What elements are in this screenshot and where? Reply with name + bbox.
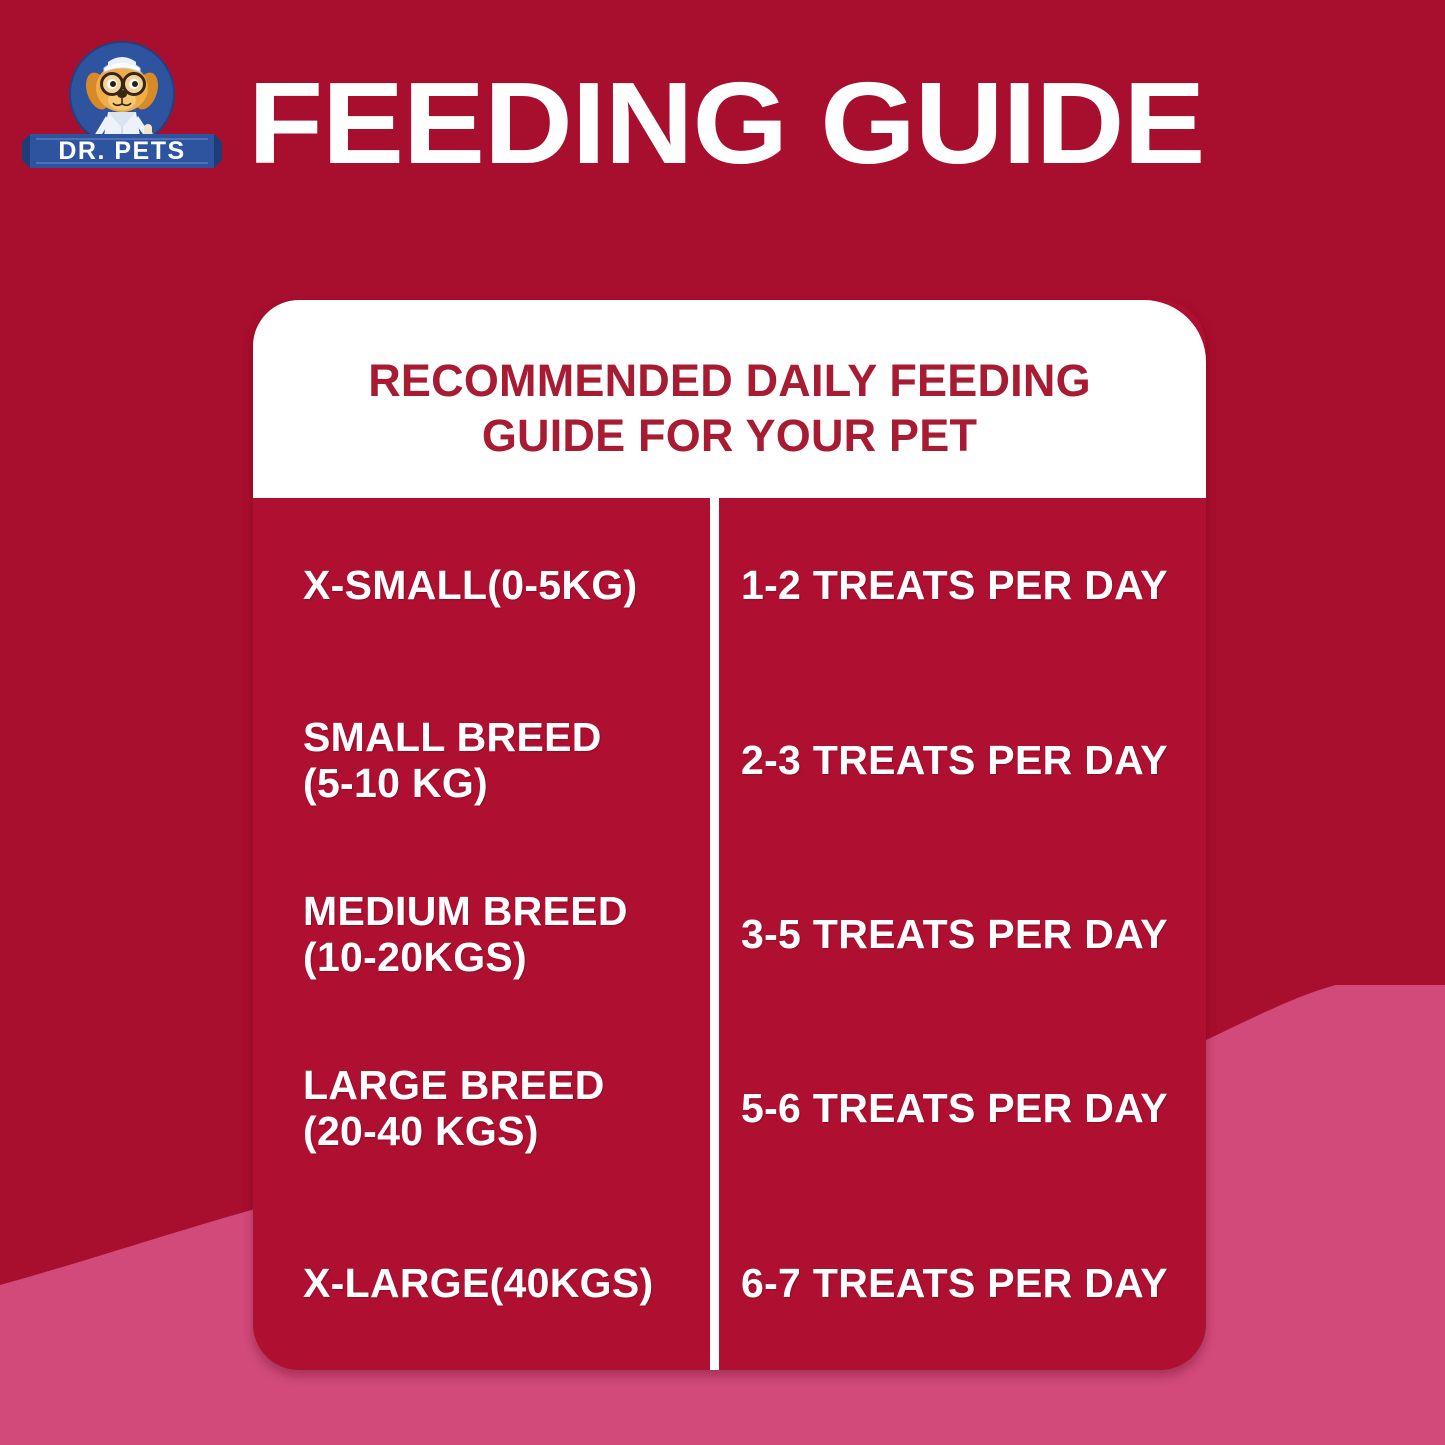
page-header: DR. PETS FEEDING GUIDE	[0, 0, 1445, 230]
cell-pet-size: X-LARGE(40KGS)	[253, 1260, 710, 1306]
cell-treat-count: 5-6 TREATS PER DAY	[710, 1085, 1206, 1131]
subtitle-text: RECOMMENDED DAILY FEEDING GUIDE FOR YOUR…	[328, 353, 1131, 463]
dog-doctor-icon: DR. PETS	[22, 36, 222, 171]
table-rows: X-SMALL(0-5KG) 1-2 TREATS PER DAY SMALL …	[253, 498, 1206, 1370]
cell-treat-count: 1-2 TREATS PER DAY	[710, 562, 1206, 608]
cell-treat-count: 6-7 TREATS PER DAY	[710, 1260, 1206, 1306]
cell-pet-size: X-SMALL(0-5KG)	[253, 562, 710, 608]
table-row: MEDIUM BREED (10-20KGS) 3-5 TREATS PER D…	[253, 847, 1206, 1021]
table-row: X-LARGE(40KGS) 6-7 TREATS PER DAY	[253, 1196, 1206, 1370]
feeding-table: X-SMALL(0-5KG) 1-2 TREATS PER DAY SMALL …	[253, 498, 1206, 1370]
table-row: X-SMALL(0-5KG) 1-2 TREATS PER DAY	[253, 498, 1206, 672]
subtitle-card: RECOMMENDED DAILY FEEDING GUIDE FOR YOUR…	[253, 300, 1206, 498]
table-row: SMALL BREED (5-10 KG) 2-3 TREATS PER DAY	[253, 672, 1206, 846]
table-row: LARGE BREED (20-40 KGS) 5-6 TREATS PER D…	[253, 1021, 1206, 1195]
cell-pet-size: LARGE BREED (20-40 KGS)	[253, 1062, 710, 1154]
brand-name-text: DR. PETS	[58, 137, 185, 165]
column-divider	[710, 498, 719, 1370]
feeding-guide-infographic: DR. PETS FEEDING GUIDE RECOMMENDED DAILY…	[0, 0, 1445, 1445]
brand-logo: DR. PETS	[22, 36, 222, 171]
cell-pet-size: MEDIUM BREED (10-20KGS)	[253, 888, 710, 980]
cell-treat-count: 3-5 TREATS PER DAY	[710, 911, 1206, 957]
page-title: FEEDING GUIDE	[248, 68, 1204, 178]
cell-pet-size: SMALL BREED (5-10 KG)	[253, 714, 710, 806]
cell-treat-count: 2-3 TREATS PER DAY	[710, 737, 1206, 783]
